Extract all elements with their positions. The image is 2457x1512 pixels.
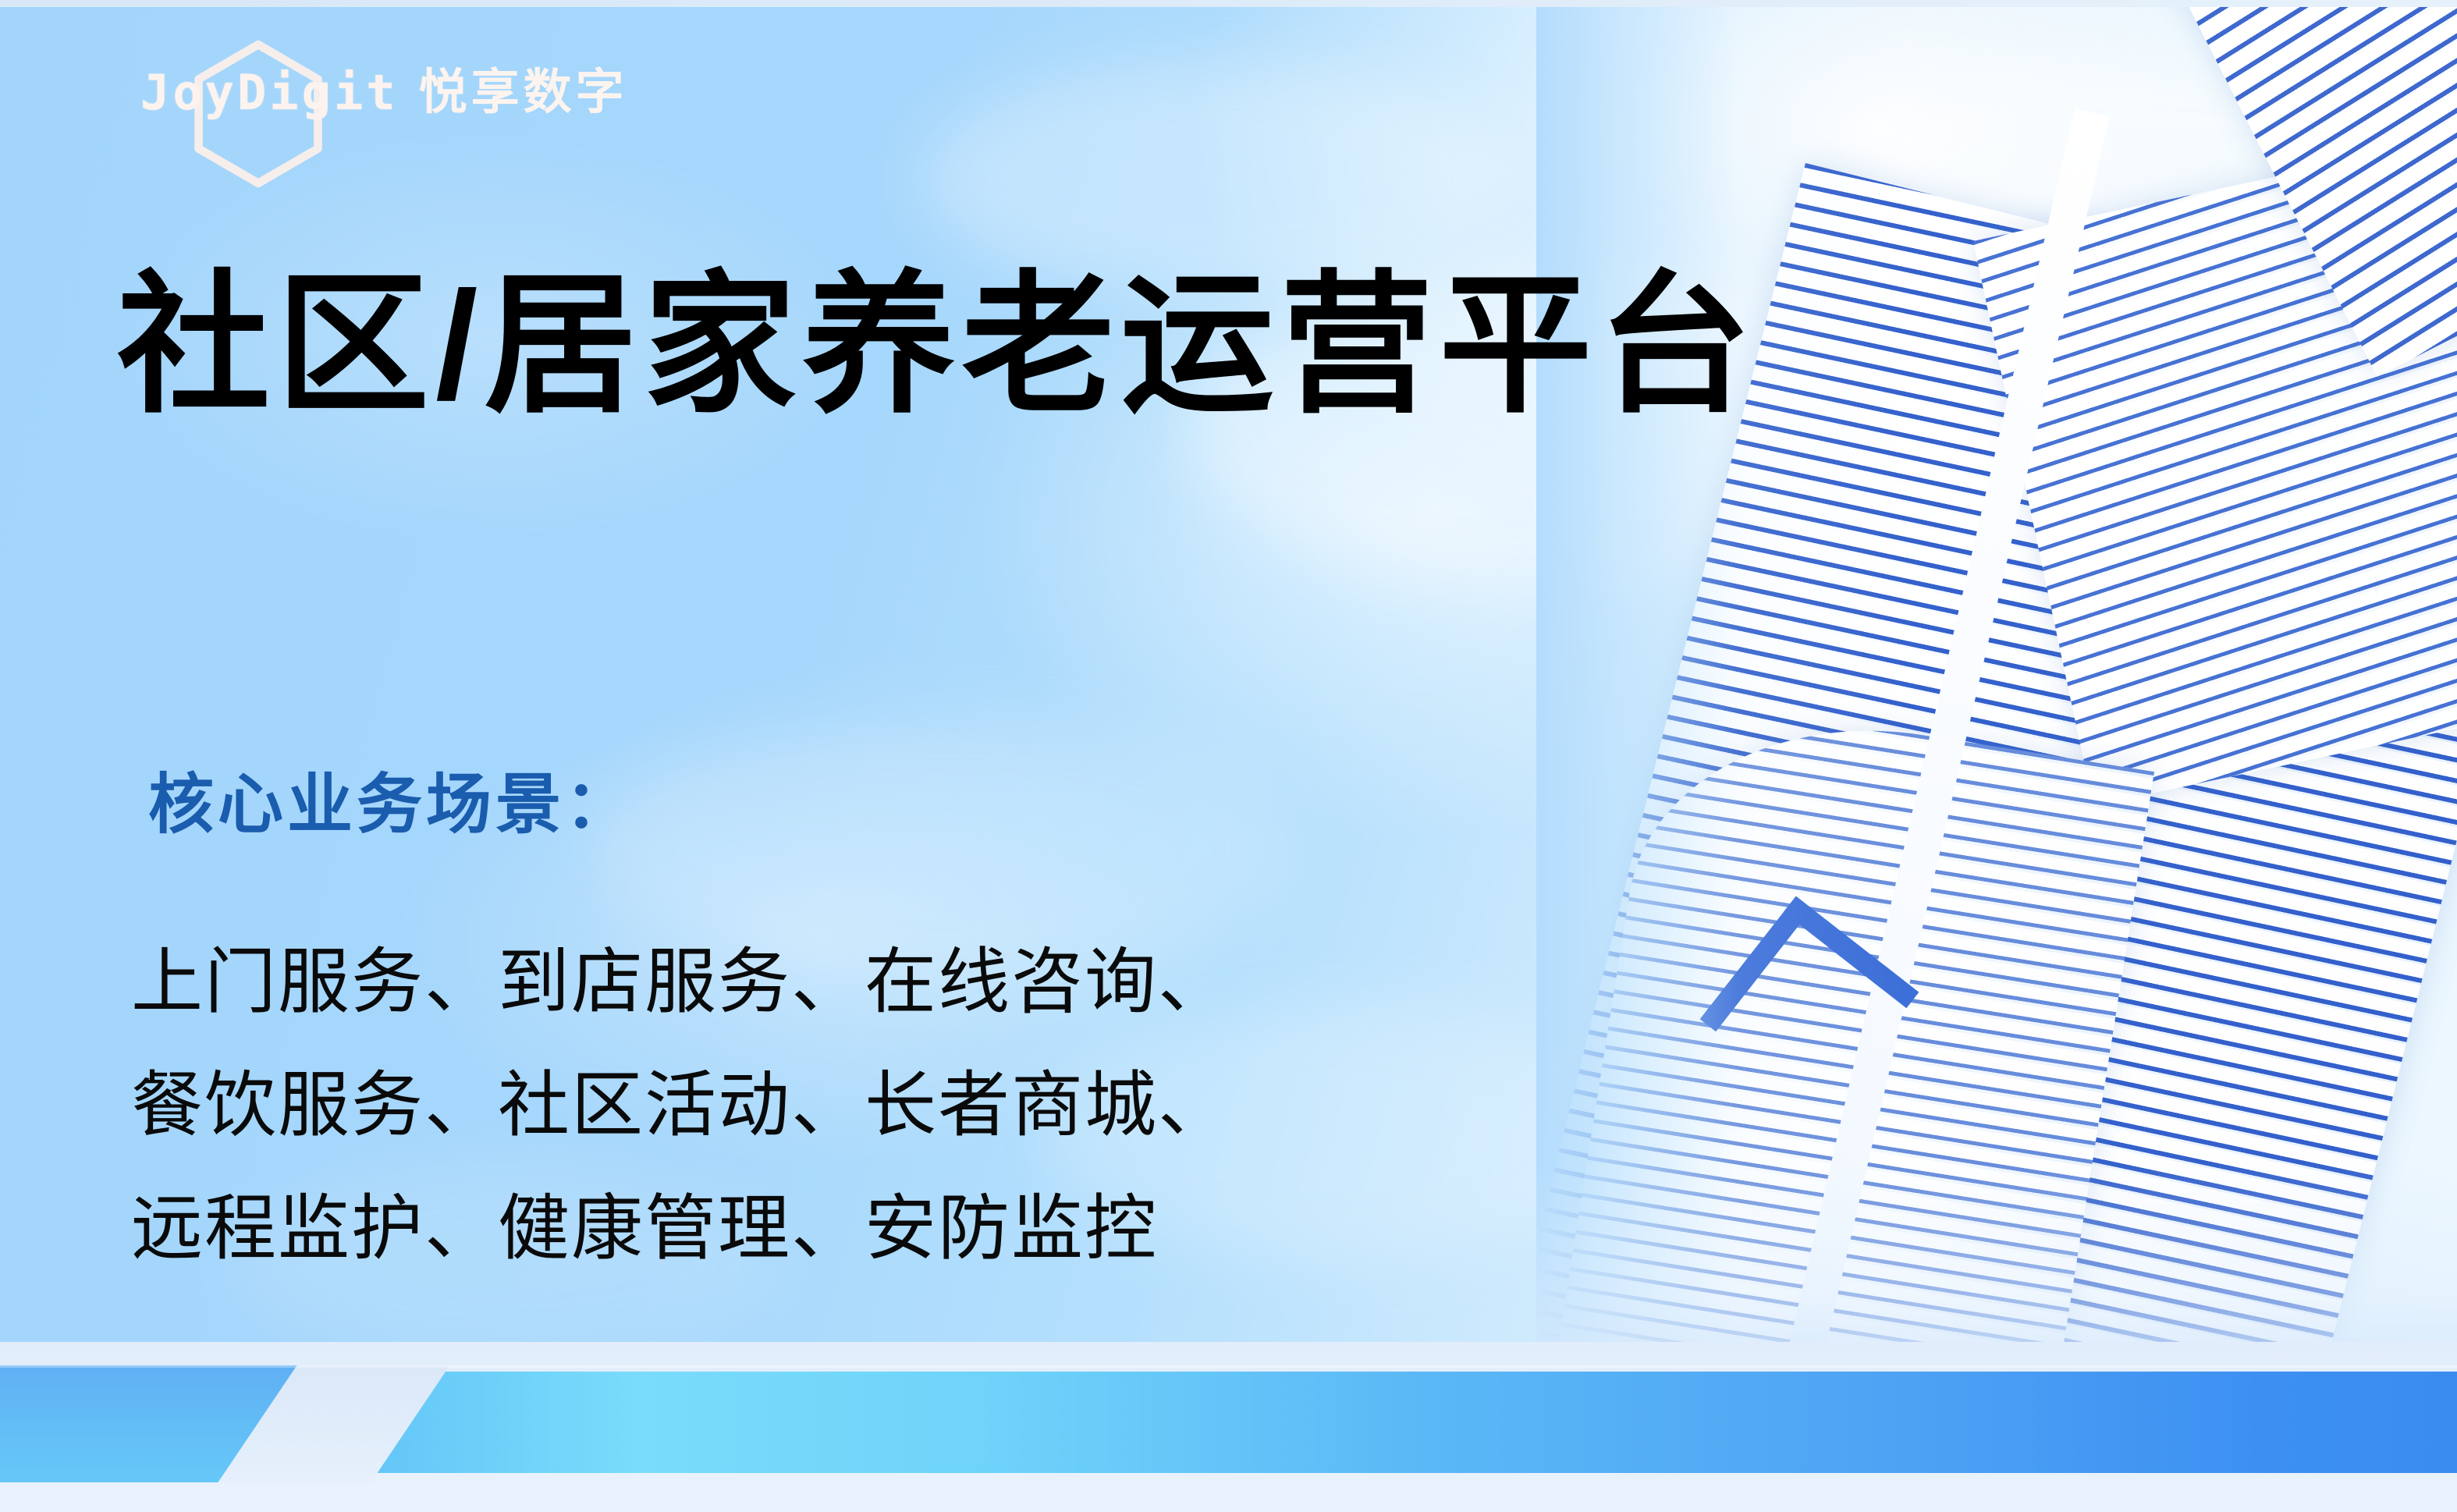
bottom-ribbon: [0, 1342, 2457, 1512]
scene-line: 上门服务、到店服务、在线咨询、: [131, 921, 1231, 1044]
page-title: 社区/居家养老运营平台: [117, 265, 1757, 426]
brand-logo[interactable]: JoyDigit 悦享数字: [140, 69, 628, 117]
logo-chinese-name: 悦享数字: [419, 69, 628, 117]
scene-line: 远程监护、健康管理、安防监控: [131, 1167, 1231, 1290]
section-label: 核心业务场景：: [148, 768, 634, 840]
scene-list: 上门服务、到店服务、在线咨询、 餐饮服务、社区活动、长者商城、 远程监护、健康管…: [131, 921, 1231, 1291]
logo-mark: JoyDigit: [140, 69, 399, 117]
top-edge-strip: [0, 0, 2457, 7]
scene-line: 餐饮服务、社区活动、长者商城、: [131, 1044, 1231, 1167]
logo-wordmark: JoyDigit: [140, 69, 399, 117]
photo-bottom-fade: [1536, 1162, 2457, 1349]
skyscraper-photo: [1536, 7, 2457, 1349]
slide-root: JoyDigit 悦享数字 社区/居家养老运营平台 核心业务场景： 上门服务、到…: [0, 0, 2457, 1512]
ribbon-top-edge: [0, 1365, 2457, 1368]
photo-left-fade: [1536, 7, 2457, 1349]
